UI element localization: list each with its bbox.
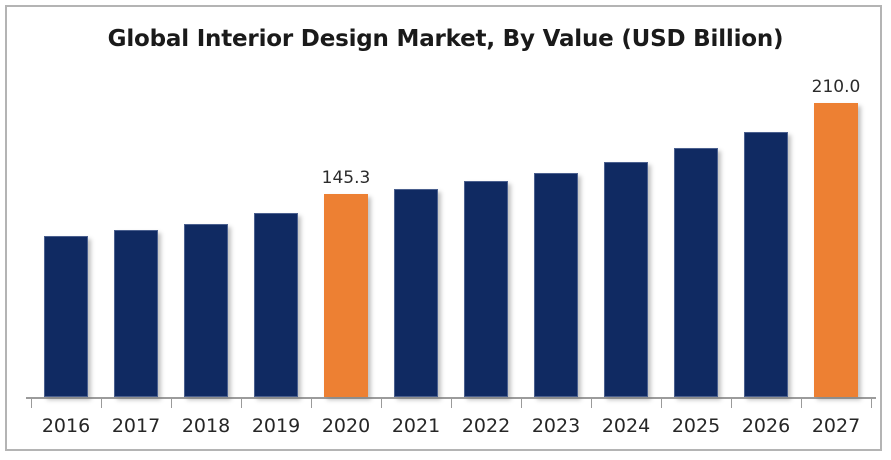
x-axis-label-2023: 2023 xyxy=(521,415,591,437)
axis-tick-2020 xyxy=(311,399,312,408)
x-axis-label-2027: 2027 xyxy=(801,415,871,437)
x-axis-label-2018: 2018 xyxy=(171,415,241,437)
x-axis-label-2016: 2016 xyxy=(31,415,101,437)
axis-tick-2021 xyxy=(381,399,382,408)
axis-tick-2019 xyxy=(241,399,242,408)
axis-tick-end xyxy=(871,399,872,408)
bar-2022[interactable] xyxy=(464,181,508,397)
bar-2019[interactable] xyxy=(254,213,298,397)
x-axis-label-2020: 2020 xyxy=(311,415,381,437)
x-axis-label-2022: 2022 xyxy=(451,415,521,437)
bar-2024[interactable] xyxy=(604,162,648,397)
x-axis-label-2026: 2026 xyxy=(731,415,801,437)
axis-tick-2022 xyxy=(451,399,452,408)
bar-2020[interactable] xyxy=(324,194,368,397)
axis-tick-2016 xyxy=(31,399,32,408)
data-label-2027: 210.0 xyxy=(796,77,876,97)
x-axis-label-2019: 2019 xyxy=(241,415,311,437)
axis-tick-2018 xyxy=(171,399,172,408)
plot-area: 2016201720182019202020212022202320242025… xyxy=(0,0,891,460)
axis-tick-2025 xyxy=(661,399,662,408)
bar-2025[interactable] xyxy=(674,148,718,397)
x-axis-label-2024: 2024 xyxy=(591,415,661,437)
axis-tick-2027 xyxy=(801,399,802,408)
axis-tick-2026 xyxy=(731,399,732,408)
x-axis-label-2025: 2025 xyxy=(661,415,731,437)
bar-2026[interactable] xyxy=(744,132,788,397)
axis-tick-2024 xyxy=(591,399,592,408)
data-label-2020: 145.3 xyxy=(306,168,386,188)
bar-2027[interactable] xyxy=(814,103,858,397)
bar-2017[interactable] xyxy=(114,230,158,397)
x-axis-label-2017: 2017 xyxy=(101,415,171,437)
bar-2023[interactable] xyxy=(534,173,578,397)
axis-tick-2017 xyxy=(101,399,102,408)
bar-2016[interactable] xyxy=(44,236,88,397)
bar-2018[interactable] xyxy=(184,224,228,397)
x-axis-label-2021: 2021 xyxy=(381,415,451,437)
axis-tick-2023 xyxy=(521,399,522,408)
bar-2021[interactable] xyxy=(394,189,438,397)
